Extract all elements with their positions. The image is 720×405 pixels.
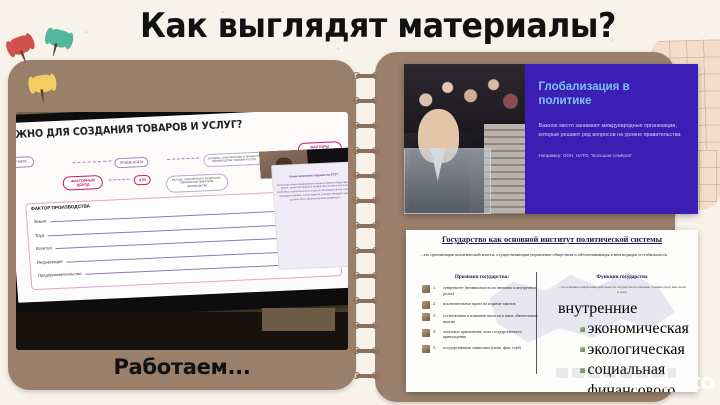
secondary-slide-body: Используя обществоведческие знания и фак… (276, 180, 348, 203)
state-sign-item: 1.суверенитет (независимость во внешних … (422, 285, 542, 296)
state-sign-icon (422, 345, 430, 353)
poster-canvas: Как выглядят материалы? О НУЖНО ДЛЯ СОЗД… (0, 0, 720, 405)
globalization-slide: Глобализация в политике Важное место зан… (404, 64, 698, 214)
factor-name: Капитал (35, 246, 51, 252)
table-header-left: ФАКТОР ПРОИЗВОДСТВА (31, 204, 90, 212)
page-title: Как выглядят материалы? (140, 6, 616, 46)
tv-bezel: О НУЖНО ДЛЯ СОЗДАНИЯ ТОВАРОВ И УСЛУГ? ПО… (16, 112, 348, 320)
avito-watermark: avito (630, 370, 714, 395)
slide-body: Важное место занимают международные орга… (539, 122, 684, 141)
spiral-ring (352, 197, 380, 204)
item-text: суверенитет (независимость во внешних и … (443, 285, 542, 296)
internal-label-text: внутренние (558, 300, 637, 318)
avito-logo-dot (630, 376, 643, 389)
document-lead: – это организация политической власти, о… (420, 252, 686, 259)
flow-connector (109, 179, 130, 181)
spiral-ring (352, 297, 380, 304)
state-sign-icon (422, 285, 430, 293)
document-left-column: Признаки государства: 1.суверенитет (нез… (422, 274, 542, 357)
spiral-ring (352, 247, 380, 254)
factor-name: Предпринимательство (37, 271, 81, 278)
slide-photo (404, 64, 525, 214)
state-institution-document: Государство как основной институт полити… (406, 230, 698, 392)
flow-note-0: ресурсы, участвующие в процессе производ… (202, 152, 265, 168)
spiral-ring (352, 372, 380, 379)
item-number: 2. (433, 301, 440, 307)
state-sign-item: 5.государственная символика (гимн, флаг,… (422, 345, 542, 353)
tv-stand (16, 312, 348, 350)
spiral-ring (352, 272, 380, 279)
state-sign-icon (422, 301, 430, 309)
item-text: установление и взимание налогов и иных о… (443, 313, 542, 324)
spiral-ring (352, 147, 380, 154)
spiral-ring (352, 347, 380, 354)
slide-text-panel: Глобализация в политике Важное место зан… (525, 64, 698, 214)
flow-note-1: выгода, полученная в результате применен… (165, 173, 228, 193)
item-number: 4. (433, 329, 440, 335)
left-caption: Работаем... (16, 355, 348, 379)
item-text: государственная символика (гимн, флаг, г… (443, 345, 521, 351)
function-icon (580, 347, 585, 352)
spiral-binding (352, 62, 380, 397)
yellow-pin-icon (29, 73, 58, 102)
state-sign-item: 2.исключительное право на издание законо… (422, 301, 542, 309)
slide-title: Глобализация в политике (539, 80, 684, 108)
flow-node-1: ПРИМЕНЯЕМ (114, 157, 148, 169)
state-sign-icon (422, 329, 430, 337)
spiral-ring (352, 97, 380, 104)
tv-screen: О НУЖНО ДЛЯ СОЗДАНИЯ ТОВАРОВ И УСЛУГ? ПО… (16, 112, 348, 303)
flow-connector (167, 158, 199, 160)
function-text: экологическая (588, 341, 685, 359)
avito-logo-text: avito (657, 370, 714, 395)
function-icon (580, 327, 585, 332)
spiral-ring (352, 72, 380, 79)
secondary-slide-preview: Какие возможны задания на ЕГЭ? Используя… (270, 162, 348, 270)
spiral-ring (352, 172, 380, 179)
avito-logo-dot-small (645, 378, 654, 387)
internal-functions-label: внутренние (558, 300, 686, 318)
factor-name: Информация (36, 259, 62, 265)
item-number: 5. (433, 345, 440, 351)
factor-name: Земля (33, 219, 46, 225)
item-text: исключительное право на издание законов (443, 301, 516, 307)
right-column-subtitle: – это основные направления деятельности … (558, 285, 686, 295)
flow-node-0: ПОЛУЧАЕМ... (16, 157, 35, 169)
function-text: экономическая (588, 320, 689, 338)
slide-note: Например: ООН, НАТО, "Большая семёрка" (539, 152, 684, 160)
flow-connector (72, 160, 111, 163)
classroom-tv-photo: О НУЖНО ДЛЯ СОЗДАНИЯ ТОВАРОВ И УСЛУГ? ПО… (16, 112, 348, 350)
document-title: Государство как основной институт полити… (406, 235, 698, 244)
spiral-ring (352, 222, 380, 229)
internal-function-item: экономическая (580, 320, 686, 338)
photo-podium (404, 148, 491, 214)
spiral-ring (352, 322, 380, 329)
factor-name: Труд (34, 232, 43, 237)
left-column-heading: Признаки государства: (422, 274, 542, 280)
flow-node-4: ЭТО (133, 175, 151, 186)
state-sign-item: 4.легальное применение силы государствен… (422, 329, 542, 340)
right-column-heading: Функции государства (558, 274, 686, 280)
flow-node-3: ФАКТОРНЫЙ ДОХОД (62, 175, 103, 191)
spiral-ring (352, 122, 380, 129)
row-connector (86, 264, 311, 275)
teal-pin-icon (43, 27, 75, 59)
item-text: легальное применение силы государственно… (443, 329, 542, 340)
internal-function-item: экологическая (580, 341, 686, 359)
tv-slide-heading: О НУЖНО ДЛЯ СОЗДАНИЯ ТОВАРОВ И УСЛУГ? (16, 115, 327, 142)
item-number: 3. (433, 313, 440, 319)
secondary-slide-title: Какие возможны задания на ЕГЭ? (275, 172, 348, 180)
item-number: 1. (433, 285, 440, 291)
state-sign-item: 3.установление и взимание налогов и иных… (422, 313, 542, 324)
state-sign-icon (422, 313, 430, 321)
